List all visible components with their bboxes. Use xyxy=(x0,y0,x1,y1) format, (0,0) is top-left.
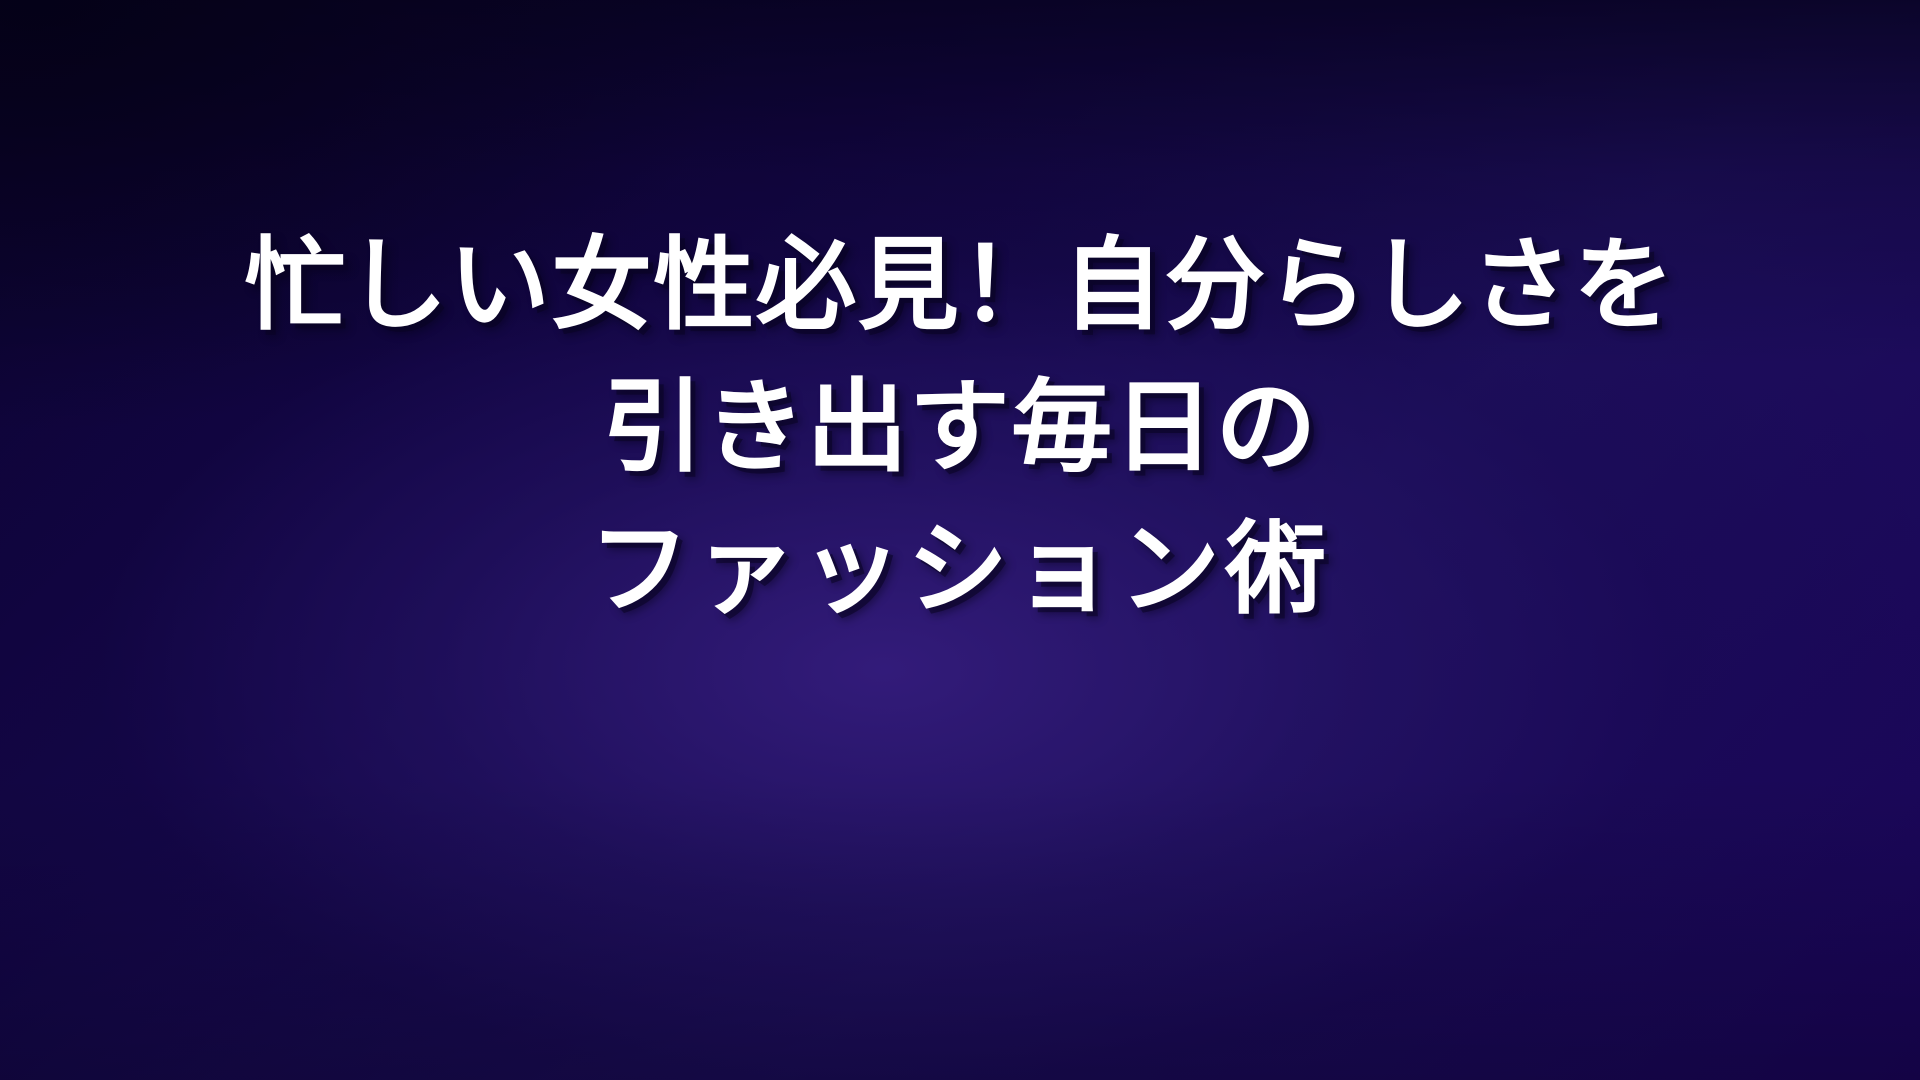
title-line-2: 引き出す毎日の xyxy=(602,356,1318,498)
title-line-3: ファッション術 xyxy=(589,498,1331,640)
title-line-1: 忙しい女性必見！自分らしさを xyxy=(245,214,1676,356)
title-card-canvas: 忙しい女性必見！自分らしさを 引き出す毎日の ファッション術 xyxy=(0,0,1920,1080)
title-block: 忙しい女性必見！自分らしさを 引き出す毎日の ファッション術 xyxy=(0,0,1920,1080)
